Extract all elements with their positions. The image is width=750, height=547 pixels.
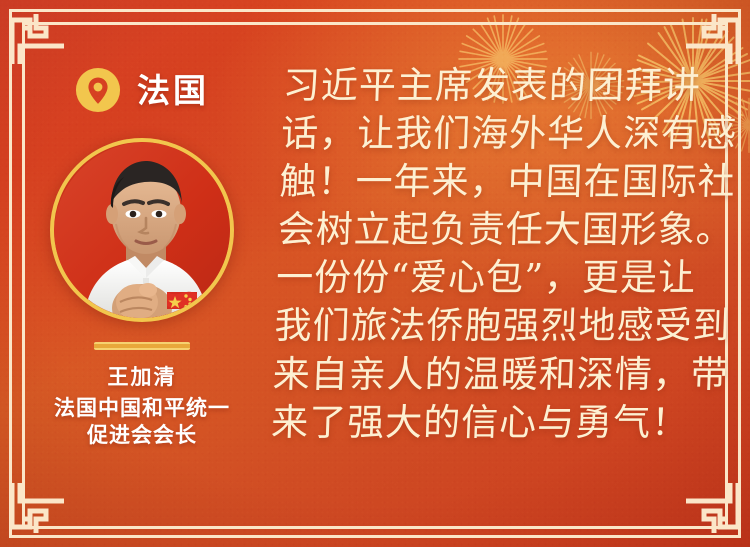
quote-line: 来自亲人的温暖和深情，带 (272, 351, 722, 399)
country-label: 法国 (137, 74, 209, 107)
quote-line: 触！一年来，中国在国际社 (279, 158, 729, 206)
quote-line: 习近平主席发表的团拜讲 (282, 62, 732, 110)
profile-column: 法国 (26, 58, 258, 450)
corner-ornament-bottom-left (6, 477, 70, 541)
quote-line: 会树立起负责任大国形象。 (277, 206, 727, 254)
map-pin-icon (75, 67, 121, 113)
portrait-illustration (54, 142, 230, 318)
person-title: 法国中国和平统一 促进会会长 (54, 396, 230, 450)
person-title-line: 法国中国和平统一 (54, 397, 230, 420)
location-row: 法国 (75, 58, 209, 122)
person-name: 王加清 (108, 361, 177, 391)
frame-bottom-line (9, 526, 741, 529)
avatar (50, 138, 234, 322)
corner-ornament-top-right (680, 6, 744, 70)
gold-divider (94, 342, 190, 350)
quote-line: 来了强大的信心与勇气！ (270, 399, 720, 447)
poster-card: 法国 (0, 0, 750, 547)
quote-line: 我们旅法侨胞强烈地感受到 (274, 302, 724, 350)
corner-ornament-bottom-right (680, 477, 744, 541)
person-title-line: 促进会会长 (87, 424, 197, 447)
quote-line: 话，让我们海外华人深有感 (280, 110, 730, 158)
avatar-photo (54, 142, 230, 318)
quote-line: 一份份“爱心包”，更是让 (275, 254, 725, 302)
quote-text: 习近平主席发表的团拜讲 话，让我们海外华人深有感 触！一年来，中国在国际社 会树… (270, 62, 731, 447)
